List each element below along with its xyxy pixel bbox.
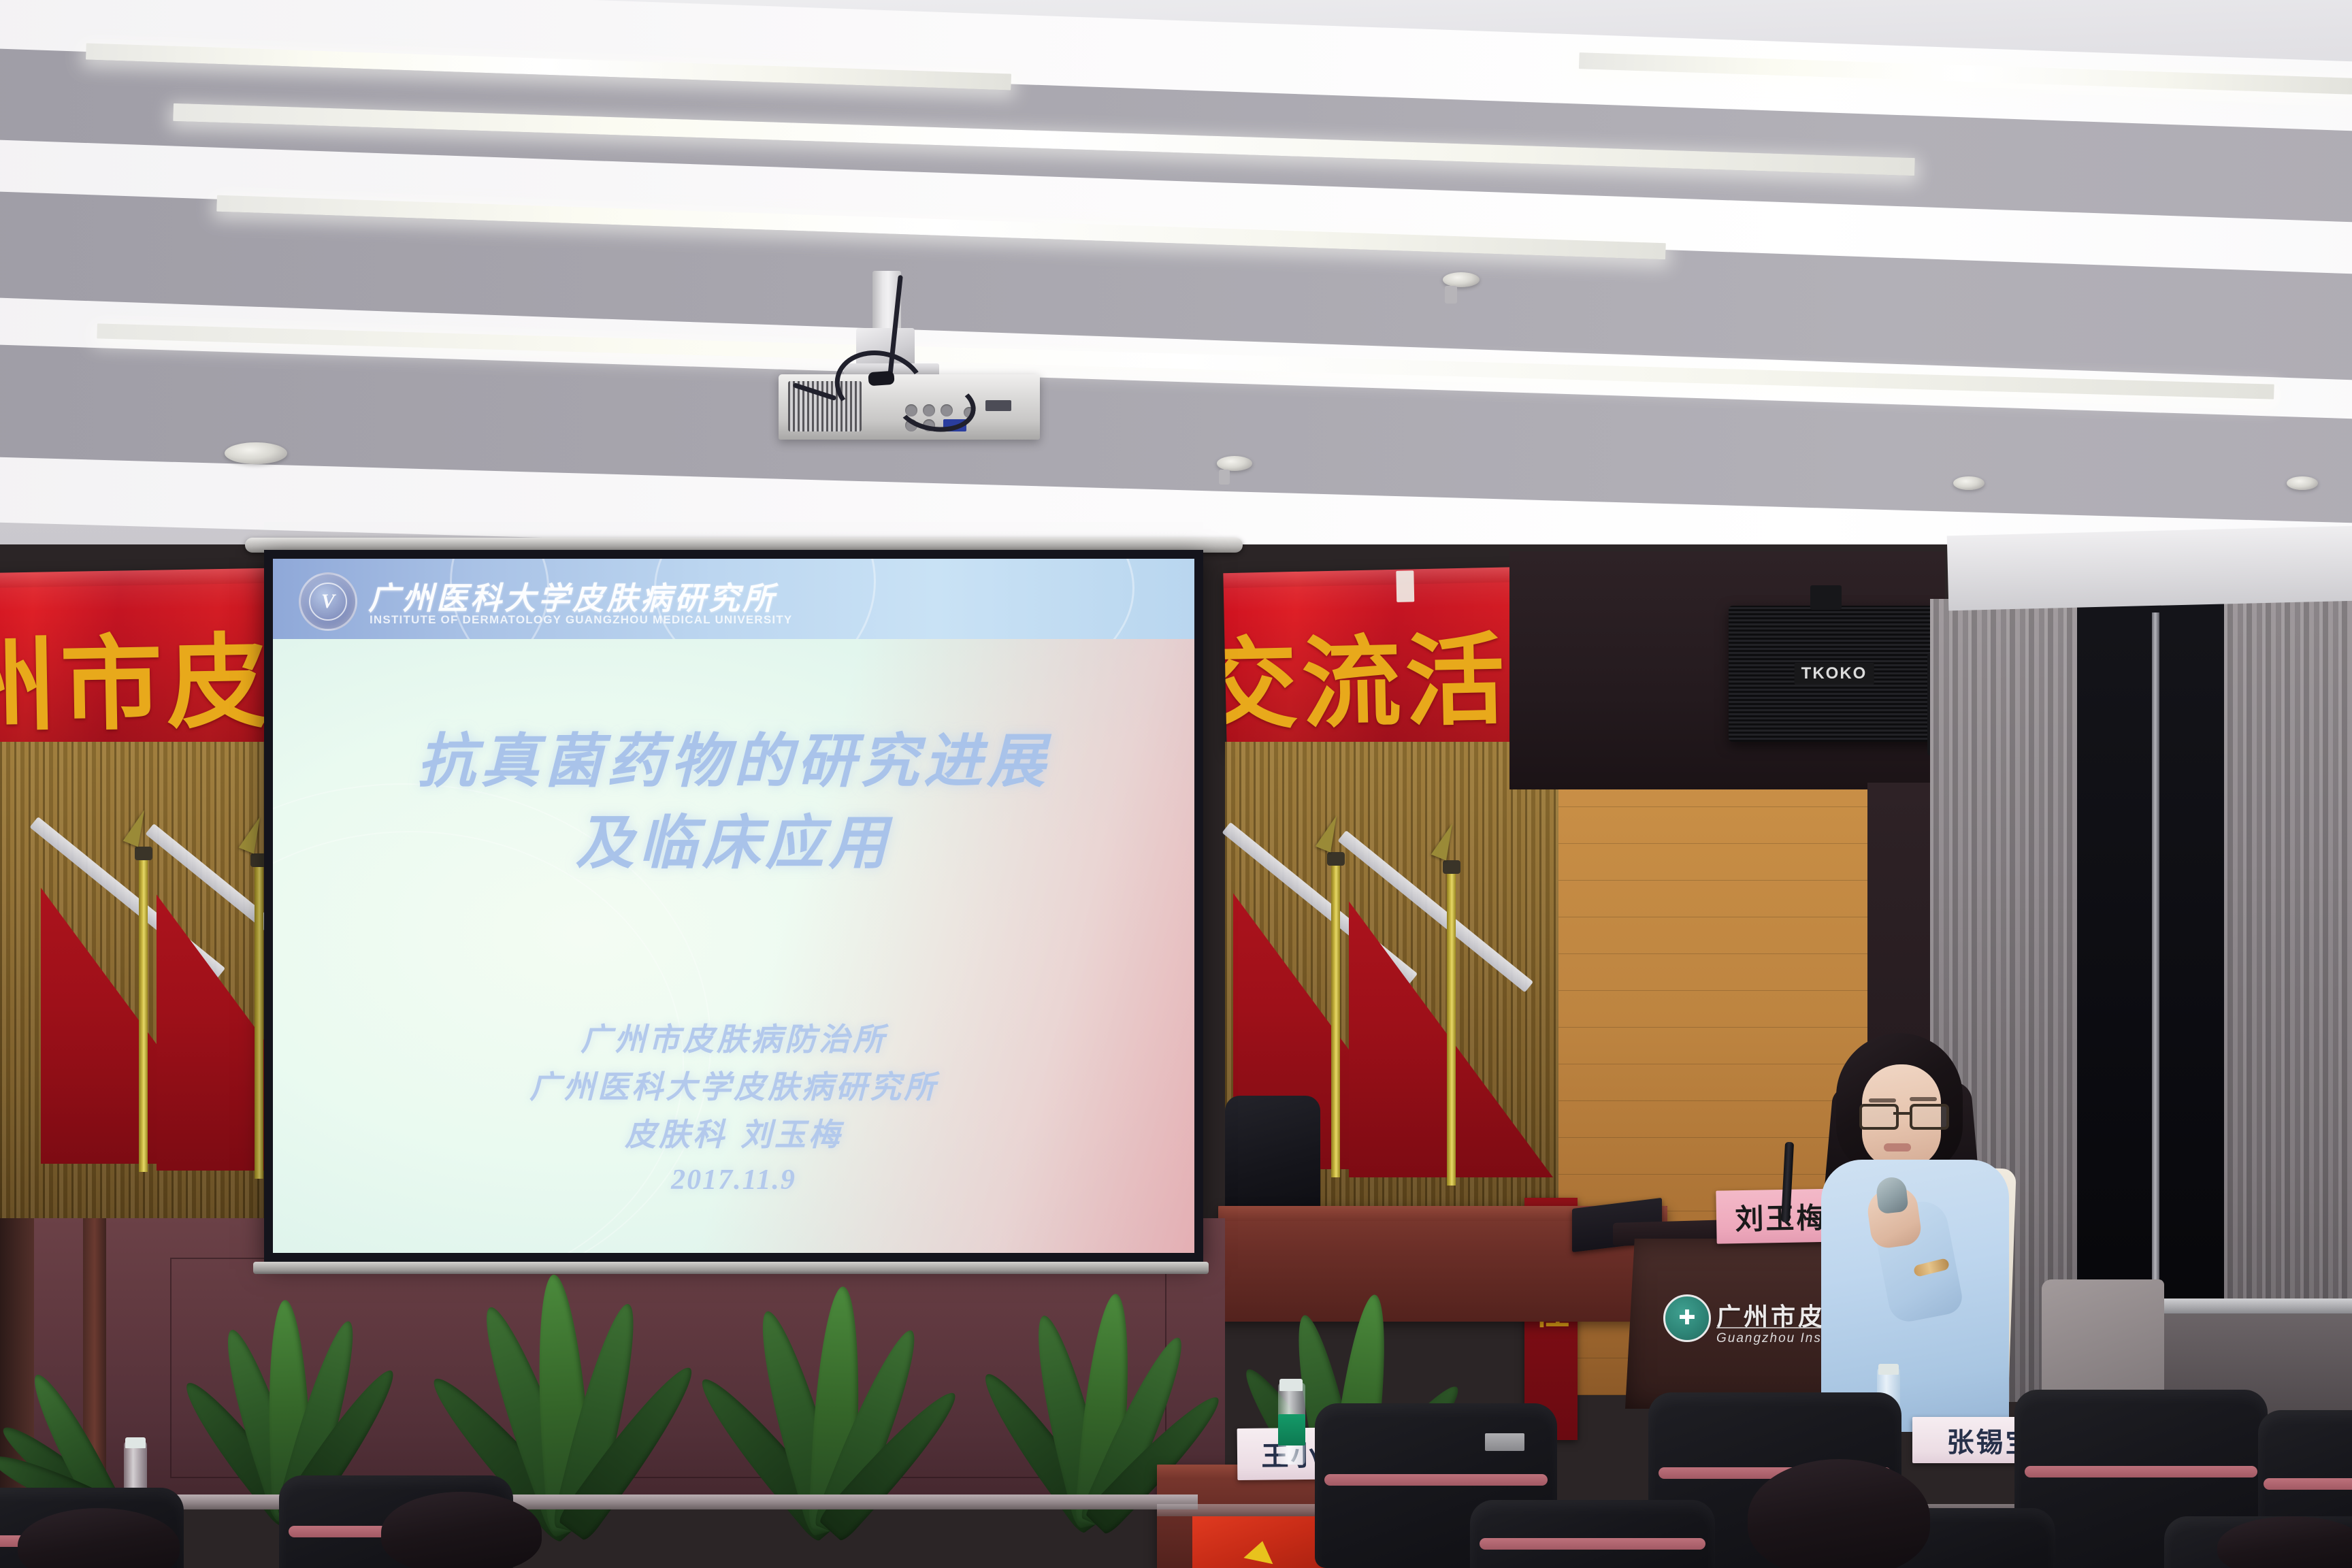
- slide-header-band: V 广州医科大学皮肤病研究所 INSTITUTE OF DERMATOLOGY …: [273, 559, 1194, 639]
- slide-date: 2017.11.9: [273, 1159, 1194, 1203]
- flag-knob: [1443, 860, 1460, 874]
- ceiling-fixture-stub: [1219, 470, 1230, 485]
- flag-spear-tip: [1316, 812, 1344, 852]
- flag-pole: [255, 866, 263, 1179]
- conference-hall-photo: 州市皮 交流活动: [0, 0, 2352, 1568]
- presenter-eyebrow: [1869, 1098, 1896, 1102]
- slide-logo-letter: V: [309, 583, 347, 621]
- audience-seat: [1470, 1500, 1715, 1568]
- slide-byline-line: 广州市皮肤病防治所: [273, 1016, 1194, 1064]
- bottle-label: [1278, 1414, 1305, 1445]
- seat-number-plate: [1485, 1433, 1524, 1451]
- flag-pole: [139, 859, 148, 1172]
- slide-header-org-cn: 广州医科大学皮肤病研究所: [368, 574, 777, 619]
- slide-byline: 广州市皮肤病防治所 广州医科大学皮肤病研究所 皮肤科 刘玉梅 2017.11.9: [273, 1016, 1194, 1203]
- presentation-slide: V 广州医科大学皮肤病研究所 INSTITUTE OF DERMATOLOGY …: [273, 559, 1194, 1253]
- flag-knob: [135, 847, 152, 860]
- slide-title: 抗真菌药物的研究进展 及临床应用: [273, 721, 1194, 885]
- projection-screen: V 广州医科大学皮肤病研究所 INSTITUTE OF DERMATOLOGY …: [264, 550, 1224, 1305]
- podium-institute-logo: ✚: [1663, 1294, 1711, 1342]
- ceiling-projector: [769, 271, 1055, 475]
- banner-left-text: 州市皮: [0, 600, 274, 752]
- presenter-person: [1818, 1033, 2023, 1441]
- seat-band: [2264, 1478, 2352, 1490]
- flag-knob: [1327, 852, 1345, 866]
- slide-title-line: 及临床应用: [273, 802, 1194, 884]
- seat-band: [2025, 1466, 2257, 1477]
- banner-hanger-tab: [1396, 570, 1414, 602]
- window-mullion: [2152, 612, 2159, 1341]
- decorative-flag: [1349, 823, 1553, 1177]
- ceiling-downlight: [1443, 272, 1480, 287]
- screen-bottom-bar: [253, 1262, 1209, 1274]
- seat-band: [1480, 1538, 1705, 1550]
- potted-plant: [14, 1347, 204, 1511]
- flag-pole: [1447, 872, 1456, 1186]
- projector-cable-ferrite: [868, 371, 894, 387]
- wall-speaker: TKOKO: [1729, 606, 1940, 742]
- wall-speaker-brand: TKOKO: [1795, 663, 1874, 685]
- presenter-glasses: [1859, 1104, 1944, 1124]
- audience-head: [1748, 1459, 1930, 1568]
- ceiling-fixture-stub: [1445, 286, 1457, 304]
- stage-chair: [1225, 1096, 1320, 1211]
- screen-frame: V 广州医科大学皮肤病研究所 INSTITUTE OF DERMATOLOGY …: [264, 550, 1203, 1262]
- bottle-cap: [1279, 1379, 1303, 1391]
- wall-speaker-bracket: [1810, 585, 1842, 610]
- ceiling: [0, 0, 2352, 544]
- presenter-eyebrow: [1910, 1097, 1937, 1101]
- slide-header-org-en: INSTITUTE OF DERMATOLOGY GUANGZHOU MEDIC…: [370, 613, 792, 627]
- grey-curtain: [2224, 551, 2352, 1402]
- slide-university-logo: V: [299, 572, 357, 631]
- audience-head: [381, 1492, 542, 1568]
- ceiling-downlight: [2287, 476, 2318, 490]
- screen-surface: V 广州医科大学皮肤病研究所 INSTITUTE OF DERMATOLOGY …: [273, 559, 1194, 1253]
- flag-spear-tip: [1431, 820, 1460, 860]
- seat-band: [1324, 1474, 1548, 1486]
- flag-pole: [1331, 864, 1340, 1177]
- projector-hdmi-port: [985, 400, 1011, 411]
- ceiling-downlight: [1217, 456, 1252, 471]
- ceiling-downlight: [225, 442, 287, 464]
- slide-byline-line: 皮肤科 刘玉梅: [273, 1111, 1194, 1159]
- slide-byline-line: 广州医科大学皮肤病研究所: [273, 1064, 1194, 1111]
- slide-title-line: 抗真菌药物的研究进展: [273, 721, 1194, 802]
- bottle-cap: [125, 1437, 146, 1448]
- bottle-cap: [1878, 1364, 1899, 1375]
- glasses-bridge: [1893, 1112, 1910, 1115]
- flag-spear-tip: [239, 813, 267, 853]
- glasses-lens: [1859, 1104, 1899, 1130]
- podium-logo-glyph: ✚: [1678, 1308, 1695, 1328]
- soffit: [1947, 526, 2352, 611]
- glasses-lens: [1910, 1104, 1949, 1130]
- flag-spear-tip: [123, 806, 152, 847]
- presenter-mouth: [1884, 1143, 1911, 1151]
- seat-back: [1470, 1500, 1715, 1568]
- ceiling-downlight: [1953, 476, 1984, 490]
